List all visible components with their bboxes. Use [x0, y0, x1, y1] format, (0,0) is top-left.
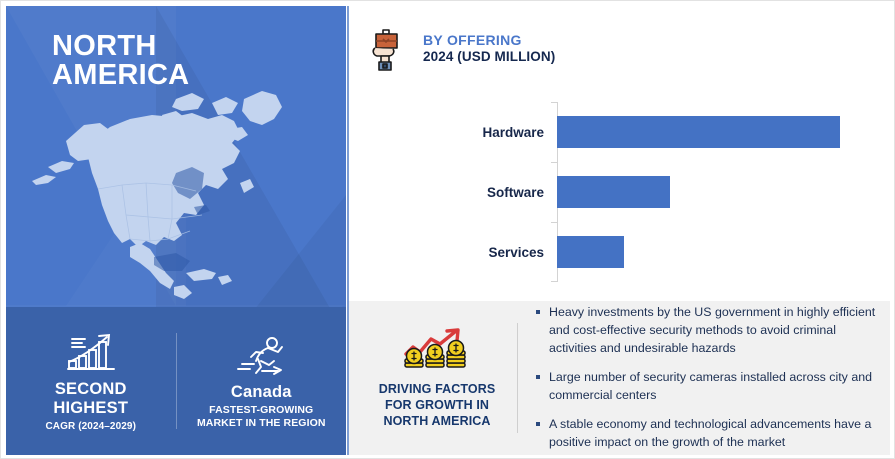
- content-panel: BY OFFERING 2024 (USD MILLION) Hardware: [347, 6, 890, 455]
- stat-cagr: SECOND HIGHEST CAGR (2024–2029): [6, 329, 176, 433]
- bar-hardware: [557, 116, 840, 148]
- stat-cagr-sub: CAGR (2024–2029): [45, 421, 136, 433]
- drivers-label-line2: FOR GROWTH IN: [385, 398, 489, 412]
- bar-category-label: Software: [371, 185, 557, 200]
- drivers-bullet-list: Heavy investments by the US government i…: [518, 304, 890, 451]
- bullet-square-icon: [536, 375, 540, 379]
- region-panel: NORTH AMERICA: [6, 6, 346, 455]
- chart-section: BY OFFERING 2024 (USD MILLION) Hardware: [349, 6, 890, 301]
- bar-row: Services: [371, 222, 871, 282]
- bar-software: [557, 176, 670, 208]
- page-title: NORTH AMERICA: [52, 32, 189, 90]
- list-item: A stable economy and technological advan…: [536, 416, 876, 451]
- stat-market-sub: FASTEST-GROWING MARKET IN THE REGION: [197, 404, 326, 430]
- growth-bar-chart-icon: [63, 329, 119, 373]
- chart-subtitle: 2024 (USD MILLION): [423, 49, 555, 65]
- stat-cagr-line2: HIGHEST: [53, 399, 128, 417]
- coins-growth-arrow-icon: [400, 327, 474, 373]
- bar-track: [557, 162, 871, 222]
- bar-chart: Hardware Software Services: [371, 102, 871, 282]
- list-item: Large number of security cameras install…: [536, 369, 876, 404]
- stat-cagr-main: SECOND HIGHEST: [53, 380, 128, 417]
- bar-row: Hardware: [371, 102, 871, 162]
- list-item-text: A stable economy and technological advan…: [549, 417, 871, 449]
- running-person-icon: [234, 332, 288, 376]
- bullet-square-icon: [536, 422, 540, 426]
- chart-header-text: BY OFFERING 2024 (USD MILLION): [423, 32, 555, 66]
- stat-market-main: Canada: [231, 383, 292, 401]
- bar-services: [557, 236, 624, 268]
- infographic-frame: NORTH AMERICA: [0, 0, 895, 459]
- drivers-label-line1: DRIVING FACTORS: [379, 382, 496, 396]
- drivers-section: DRIVING FACTORS FOR GROWTH IN NORTH AMER…: [349, 301, 890, 455]
- stat-fastest-market: Canada FASTEST-GROWING MARKET IN THE REG…: [177, 332, 347, 431]
- bar-track: [557, 222, 871, 282]
- bar-row: Software: [371, 162, 871, 222]
- stat-market-sub-line1: FASTEST-GROWING: [209, 404, 313, 416]
- drivers-label-block: DRIVING FACTORS FOR GROWTH IN NORTH AMER…: [349, 327, 517, 429]
- list-item: Heavy investments by the US government i…: [536, 304, 876, 357]
- bar-rows: Hardware Software Services: [371, 102, 871, 282]
- list-item-text: Heavy investments by the US government i…: [549, 305, 875, 354]
- hand-holding-briefcase-icon: [371, 25, 411, 73]
- chart-header: BY OFFERING 2024 (USD MILLION): [371, 25, 555, 73]
- bar-category-label: Services: [371, 245, 557, 260]
- list-item-text: Large number of security cameras install…: [549, 370, 872, 402]
- bar-track: [557, 102, 871, 162]
- north-america-map-icon: [26, 81, 326, 311]
- chart-kicker: BY OFFERING: [423, 32, 555, 49]
- stat-market-sub-line2: MARKET IN THE REGION: [197, 417, 326, 429]
- bar-category-label: Hardware: [371, 125, 557, 140]
- region-title-line2: AMERICA: [52, 61, 189, 90]
- stat-cagr-line1: SECOND: [55, 380, 127, 398]
- drivers-label-line3: NORTH AMERICA: [383, 414, 490, 428]
- bullet-square-icon: [536, 310, 540, 314]
- region-stats-band: SECOND HIGHEST CAGR (2024–2029): [6, 307, 346, 455]
- drivers-label: DRIVING FACTORS FOR GROWTH IN NORTH AMER…: [379, 381, 496, 429]
- region-title-line1: NORTH: [52, 32, 189, 61]
